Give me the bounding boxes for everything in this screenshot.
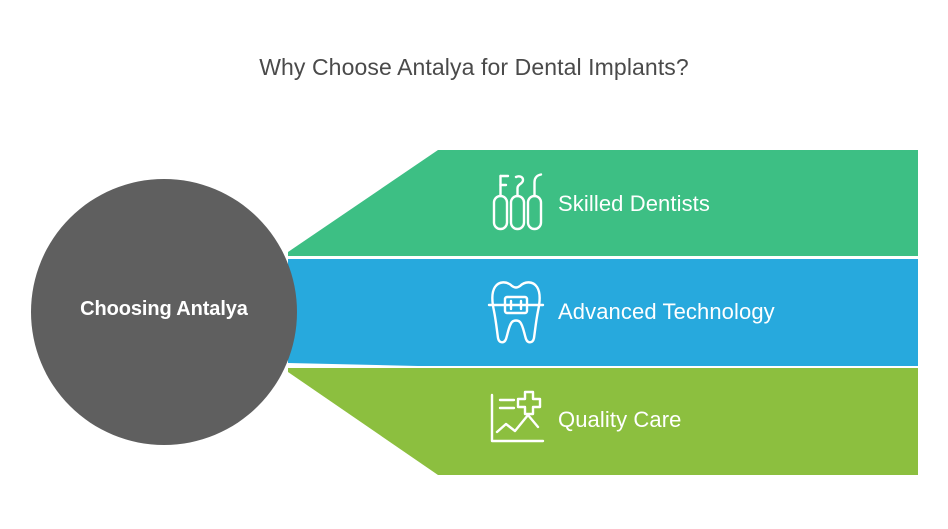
branch-label-1: Advanced Technology [558, 298, 775, 326]
branch-row-quality-care[interactable]: Quality Care [486, 390, 681, 450]
branch-row-advanced-technology[interactable]: Advanced Technology [486, 282, 775, 342]
dental-tools-icon-slot [486, 177, 540, 231]
branch-label-2: Quality Care [558, 406, 681, 434]
funnel-diagram [0, 0, 948, 529]
branch-row-skilled-dentists[interactable]: Skilled Dentists [486, 174, 710, 234]
infographic-canvas: Why Choose Antalya for Dental Implants? [0, 0, 948, 529]
hub-label: Choosing Antalya [31, 296, 297, 322]
branch-label-0: Skilled Dentists [558, 190, 710, 218]
health-chart-icon-slot [486, 393, 540, 447]
tooth-braces-icon-slot [486, 285, 540, 339]
